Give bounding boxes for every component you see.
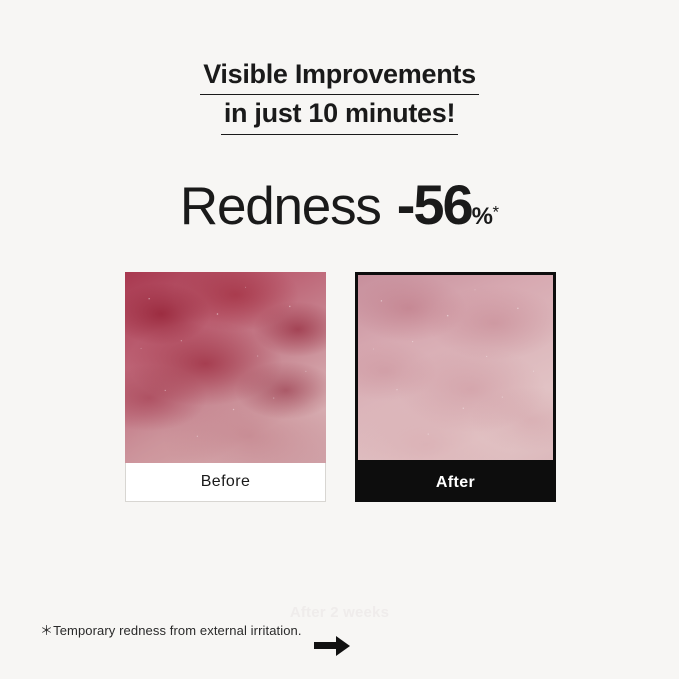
metric-block: Redness-56%* bbox=[0, 172, 679, 237]
watermark-text: After 2 weeks bbox=[0, 604, 679, 621]
metric-asterisk: * bbox=[492, 203, 499, 222]
before-skin-speckles bbox=[125, 272, 326, 463]
metric-unit: % bbox=[472, 203, 493, 230]
arrow-right-icon bbox=[314, 636, 350, 656]
after-panel: After bbox=[355, 272, 556, 502]
footnote-text: ＊Temporary redness from external irritat… bbox=[40, 620, 302, 639]
headline-line-2: in just 10 minutes! bbox=[0, 95, 679, 134]
before-skin-image bbox=[125, 272, 326, 463]
arrow-shaft bbox=[314, 642, 338, 649]
before-panel: Before bbox=[125, 272, 326, 502]
headline-line-1-text: Visible Improvements bbox=[200, 56, 479, 95]
promo-page: Visible Improvements in just 10 minutes!… bbox=[0, 0, 679, 679]
headline-line-2-text: in just 10 minutes! bbox=[221, 95, 458, 134]
before-caption: Before bbox=[125, 463, 326, 502]
after-skin-speckles bbox=[358, 275, 553, 460]
metric-label: Redness bbox=[180, 177, 381, 236]
headline-block: Visible Improvements in just 10 minutes! bbox=[0, 56, 679, 135]
headline-line-1: Visible Improvements bbox=[0, 56, 679, 95]
arrow-head bbox=[336, 636, 350, 656]
before-after-comparison: Before After bbox=[0, 272, 679, 502]
after-caption: After bbox=[355, 463, 556, 502]
after-skin-image bbox=[355, 272, 556, 463]
metric-value: -56 bbox=[397, 173, 472, 236]
